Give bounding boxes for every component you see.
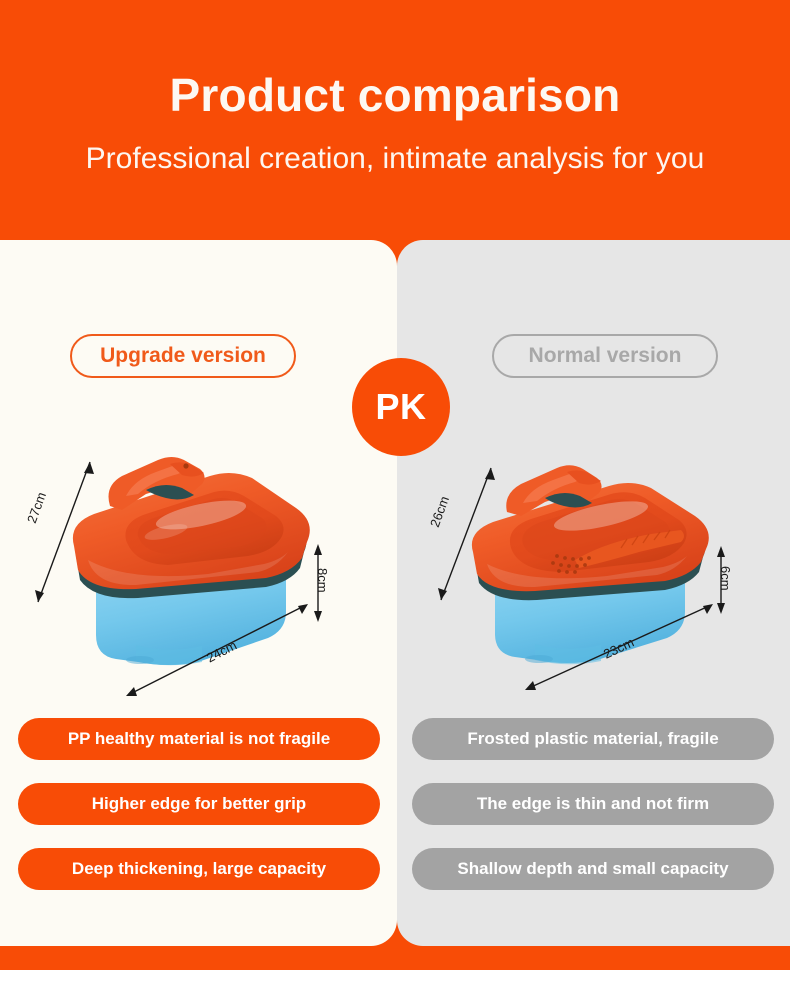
- feature-pill: Deep thickening, large capacity: [18, 848, 380, 890]
- product-image-normal: 26cm 6cm 23cm: [425, 450, 775, 700]
- page-subtitle: Professional creation, intimate analysis…: [0, 138, 790, 180]
- badge-upgrade-version: Upgrade version: [70, 334, 296, 378]
- feature-pill: Shallow depth and small capacity: [412, 848, 774, 890]
- comparison-panels: Upgrade version: [0, 240, 790, 946]
- feature-pill: Higher edge for better grip: [18, 783, 380, 825]
- base-foot-normal: [525, 655, 553, 663]
- product-image-upgrade: 27cm 8cm 24cm: [18, 440, 378, 705]
- bottom-strip: [0, 970, 790, 994]
- header-banner: Product comparison Professional creation…: [0, 0, 790, 240]
- panel-upgrade-version: Upgrade version: [0, 240, 397, 946]
- dimension-label-height-left: 8cm: [315, 568, 330, 593]
- feature-list-normal: Frosted plastic material, fragile The ed…: [412, 718, 774, 913]
- dimension-label-height-right: 6cm: [718, 566, 733, 591]
- page-title: Product comparison: [0, 66, 790, 124]
- feature-pill: Frosted plastic material, fragile: [412, 718, 774, 760]
- feature-list-upgrade: PP healthy material is not fragile Highe…: [18, 718, 380, 913]
- badge-normal-version: Normal version: [492, 334, 718, 378]
- feature-pill: PP healthy material is not fragile: [18, 718, 380, 760]
- feature-pill: The edge is thin and not firm: [412, 783, 774, 825]
- pk-badge: PK: [352, 358, 450, 456]
- base-foot: [126, 656, 154, 664]
- handle-hole: [183, 463, 188, 468]
